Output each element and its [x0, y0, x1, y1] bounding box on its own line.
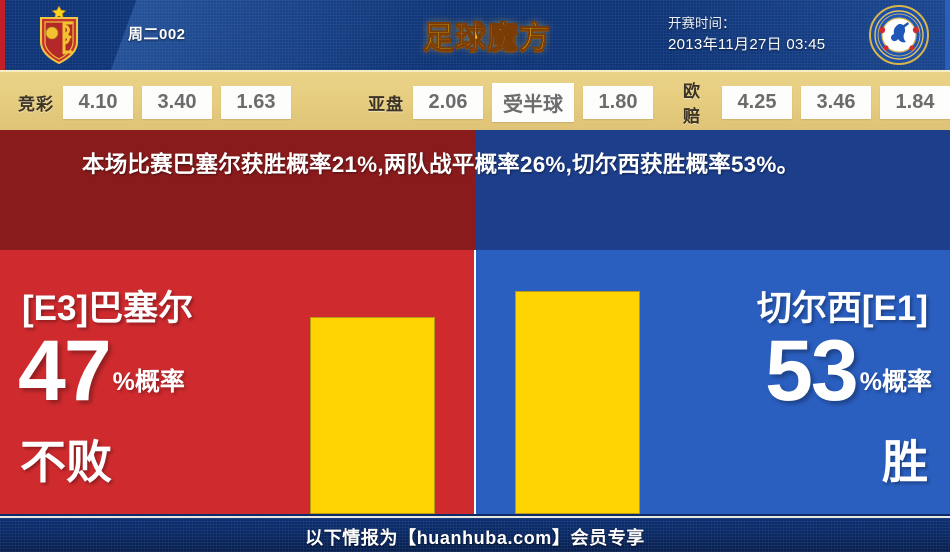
odds-group-label: 欧赔 — [683, 77, 713, 127]
home-probability-value-group: 47 %概率 — [18, 332, 185, 410]
match-number: 周二002 — [128, 23, 186, 44]
brand-logo-text: 足球魔方 — [412, 12, 562, 57]
odds-group-asian-handicap: 亚盘 2.06 受半球 1.80 — [368, 72, 653, 132]
odds-bar: 竞彩 4.10 3.40 1.63 亚盘 2.06 受半球 1.80 欧赔 4.… — [0, 70, 950, 130]
odds-cell-home[interactable]: 4.10 — [63, 86, 133, 119]
odds-cell-draw[interactable]: 3.40 — [142, 86, 212, 119]
footer-top-divider — [0, 516, 950, 518]
home-probability-unit: %概率 — [110, 362, 185, 410]
handicap-cell-line[interactable]: 受半球 — [492, 83, 574, 122]
euro-cell-away[interactable]: 1.84 — [880, 86, 950, 119]
home-probability-number: 47 — [18, 332, 110, 410]
away-outcome-label: 胜 — [882, 426, 928, 492]
match-header: 周二002 足球魔方 开赛时间： 2013年11月27日 03:45 — [0, 0, 950, 70]
away-probability-value-group: 53 %概率 — [765, 332, 932, 410]
kickoff-label: 开赛时间： — [668, 13, 825, 34]
probability-summary-band: 本场比赛巴塞尔获胜概率21%,两队战平概率26%,切尔西获胜概率53%。 — [0, 130, 950, 250]
header-left-edge-accent — [0, 0, 5, 70]
away-probability-number: 53 — [765, 332, 857, 410]
away-probability-unit: %概率 — [857, 362, 932, 410]
odds-group-label: 竞彩 — [18, 90, 54, 115]
handicap-cell-home[interactable]: 2.06 — [413, 86, 483, 119]
odds-cell-away[interactable]: 1.63 — [221, 86, 291, 119]
odds-group-label: 亚盘 — [368, 90, 404, 115]
kickoff-time: 2013年11月27日 03:45 — [668, 34, 825, 55]
bar-away-probability — [515, 291, 640, 514]
home-outcome-label: 不败 — [20, 426, 112, 492]
odds-group-jingcai: 竞彩 4.10 3.40 1.63 — [18, 72, 291, 132]
brand-logo: 足球魔方 — [412, 8, 562, 58]
euro-cell-home[interactable]: 4.25 — [722, 86, 792, 119]
footer-bar: 以下情报为【huanhuba.com】会员专享 — [0, 516, 950, 552]
header-right-edge-accent — [945, 0, 950, 70]
fc-basel-crest-icon — [28, 4, 90, 66]
bar-home-probability — [310, 317, 435, 514]
odds-group-european: 欧赔 4.25 3.46 1.84 — [683, 72, 950, 132]
match-probability-infographic: 周二002 足球魔方 开赛时间： 2013年11月27日 03:45 竞彩 4.… — [0, 0, 950, 552]
euro-cell-draw[interactable]: 3.46 — [801, 86, 871, 119]
probability-summary-text: 本场比赛巴塞尔获胜概率21%,两队战平概率26%,切尔西获胜概率53%。 — [82, 144, 872, 186]
probability-comparison-chart: [E3]巴塞尔 47 %概率 不败 切尔西[E1] 53 %概率 胜 — [0, 250, 950, 514]
footer-membership-note: 以下情报为【huanhuba.com】会员专享 — [0, 524, 950, 550]
panel-divider — [474, 250, 476, 514]
kickoff-block: 开赛时间： 2013年11月27日 03:45 — [668, 13, 825, 55]
chelsea-fc-crest-icon — [868, 4, 930, 66]
handicap-cell-away[interactable]: 1.80 — [583, 86, 653, 119]
